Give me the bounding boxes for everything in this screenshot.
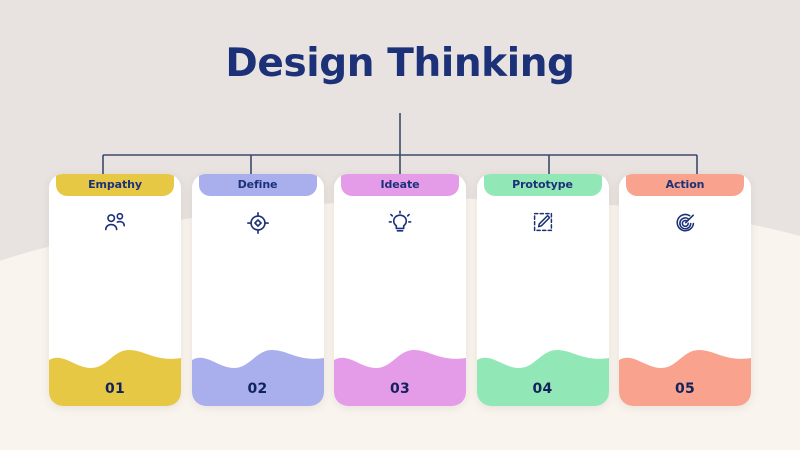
edit-draft-square-icon — [477, 210, 609, 234]
step-number: 02 — [192, 381, 324, 397]
step-label-pill: Empathy — [56, 174, 174, 196]
step-card-prototype[interactable]: Prototype 04 — [477, 174, 609, 406]
lightbulb-idea-icon — [334, 210, 466, 236]
step-number: 03 — [334, 381, 466, 397]
step-label-text: Define — [238, 178, 278, 191]
step-card-ideate[interactable]: Ideate 03 — [334, 174, 466, 406]
step-label-pill: Prototype — [484, 174, 602, 196]
step-number: 04 — [477, 381, 609, 397]
step-label-pill: Action — [626, 174, 744, 196]
target-crosshair-icon — [192, 210, 324, 236]
step-card-action[interactable]: Action 05 — [619, 174, 751, 406]
spiral-target-icon — [619, 210, 751, 235]
step-number: 01 — [49, 381, 181, 397]
slide-canvas: Design Thinking Empathy — [0, 0, 800, 450]
step-label-text: Prototype — [512, 178, 573, 191]
step-card-empathy[interactable]: Empathy 01 — [49, 174, 181, 406]
users-group-icon — [49, 210, 181, 236]
step-label-pill: Ideate — [341, 174, 459, 196]
step-number: 05 — [619, 381, 751, 397]
steps-row: Empathy 01 Define — [49, 174, 751, 406]
page-title: Design Thinking — [0, 41, 800, 86]
step-label-pill: Define — [199, 174, 317, 196]
step-card-define[interactable]: Define 02 — [192, 174, 324, 406]
step-label-text: Ideate — [381, 178, 420, 191]
step-label-text: Empathy — [88, 178, 142, 191]
step-label-text: Action — [666, 178, 705, 191]
